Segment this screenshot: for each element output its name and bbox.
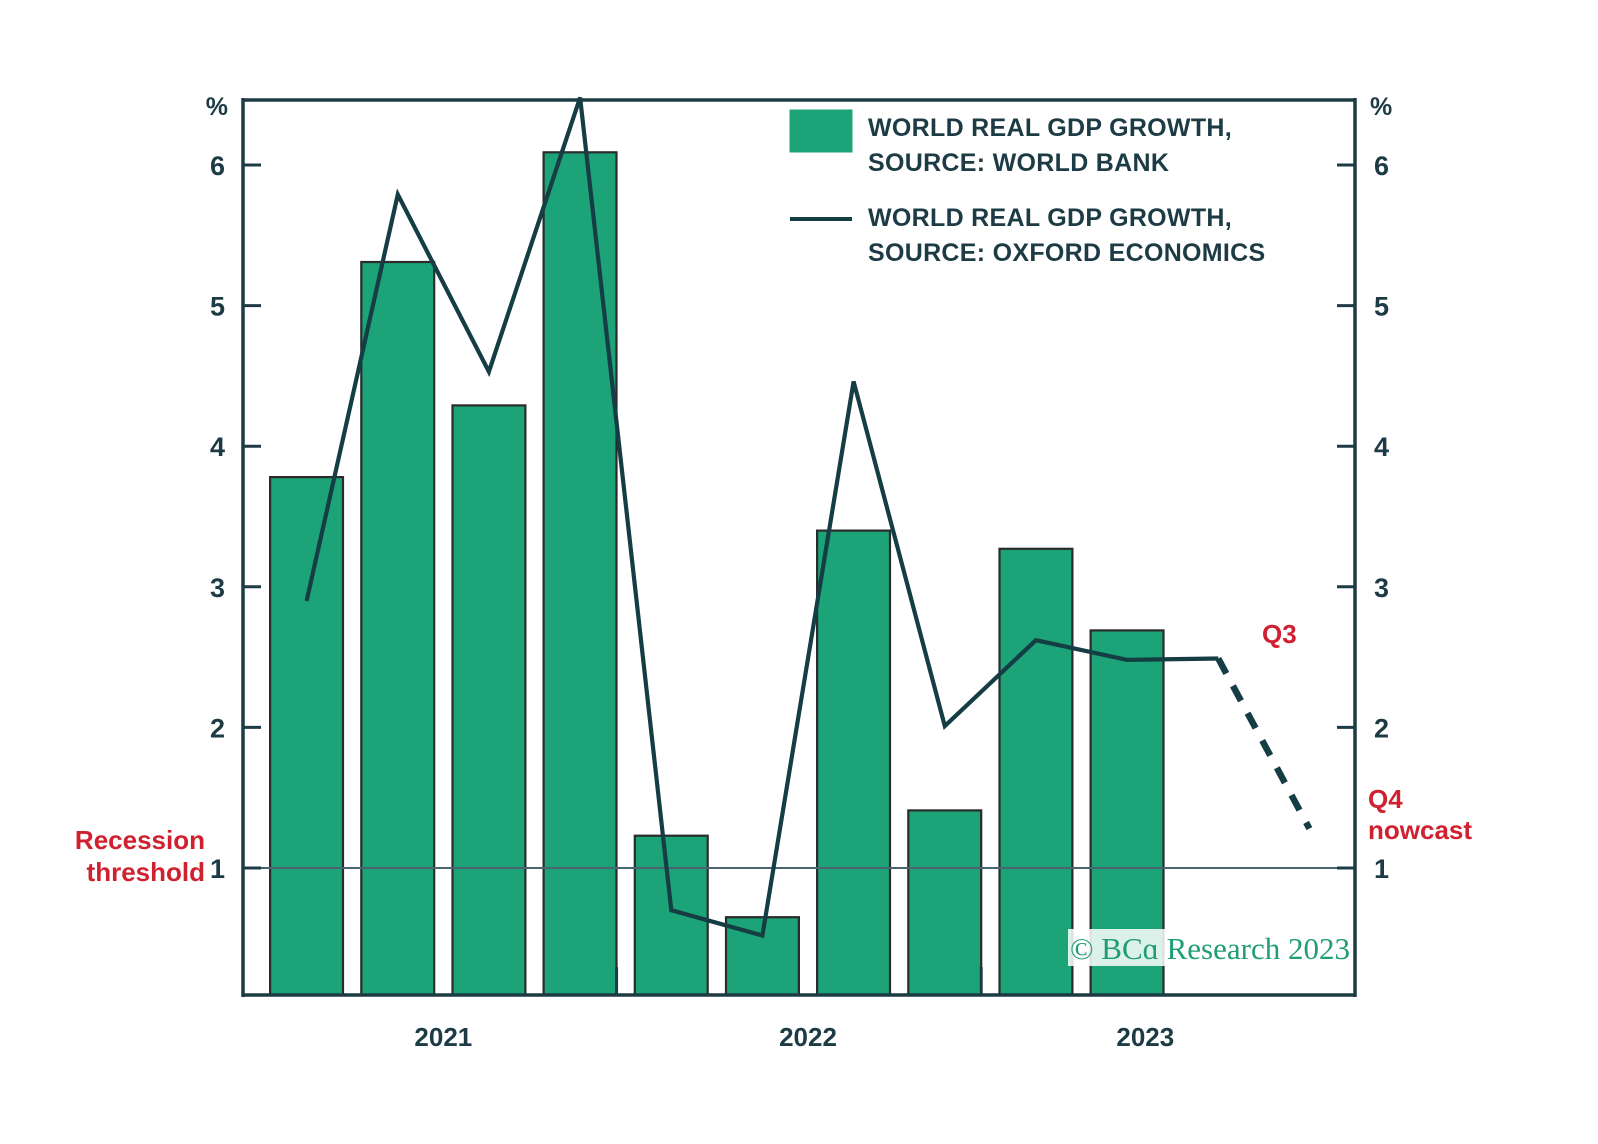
y-label-left-4: 4 [210,432,225,462]
x-label-2023: 2023 [1116,1022,1174,1052]
y-label-right-1: 1 [1374,854,1389,884]
x-axis-labels: 202120222023 [414,1022,1174,1052]
y-label-right-5: 5 [1374,292,1389,322]
y-label-right-2: 2 [1374,713,1389,743]
y-label-left-5: 5 [210,292,225,322]
q4-annotation-line2: nowcast [1368,815,1472,845]
x-label-2021: 2021 [414,1022,472,1052]
gdp-growth-chart: 654321 654321 % % 202120222023 WORLD REA… [0,0,1598,1144]
legend-item-0-line1: WORLD REAL GDP GROWTH, [868,114,1232,142]
legend-item-1-line1: WORLD REAL GDP GROWTH, [868,204,1232,232]
chart-canvas: 654321 654321 % % 202120222023 WORLD REA… [0,0,1598,1144]
bar-2023Q1 [1000,549,1073,995]
y-axis-labels-left: 654321 [210,151,225,884]
legend-bar-swatch [790,110,852,152]
watermark-text: © BCɑ Research 2023 [1070,931,1350,966]
bar-2021Q3 [453,405,526,995]
y-label-right-6: 6 [1374,151,1389,181]
legend-item-0-line2: SOURCE: WORLD BANK [868,149,1169,177]
x-label-2022: 2022 [779,1022,837,1052]
y-label-right-4: 4 [1374,432,1389,462]
bar-2021Q1 [270,477,343,995]
bar-2022Q3 [817,531,890,995]
q4-annotation-line1: Q4 [1368,784,1403,814]
y-axis-labels-right: 654321 [1374,151,1389,884]
y-axis-unit-right: % [1370,93,1392,121]
recession-threshold-line1: Recession [75,825,205,855]
bar-2021Q2 [361,262,434,995]
y-axis-unit-left: % [206,93,228,121]
q3-annotation: Q3 [1262,619,1297,649]
recession-threshold-line2: threshold [87,857,205,887]
watermark: © BCɑ Research 2023 [1068,929,1350,966]
y-label-left-6: 6 [210,151,225,181]
y-label-left-2: 2 [210,713,225,743]
legend-item-1-line2: SOURCE: OXFORD ECONOMICS [868,239,1266,267]
y-label-right-3: 3 [1374,573,1389,603]
recession-threshold-label: Recession threshold [75,825,205,887]
y-label-left-1: 1 [210,854,225,884]
bar-2022Q4 [908,810,981,995]
y-label-left-3: 3 [210,573,225,603]
